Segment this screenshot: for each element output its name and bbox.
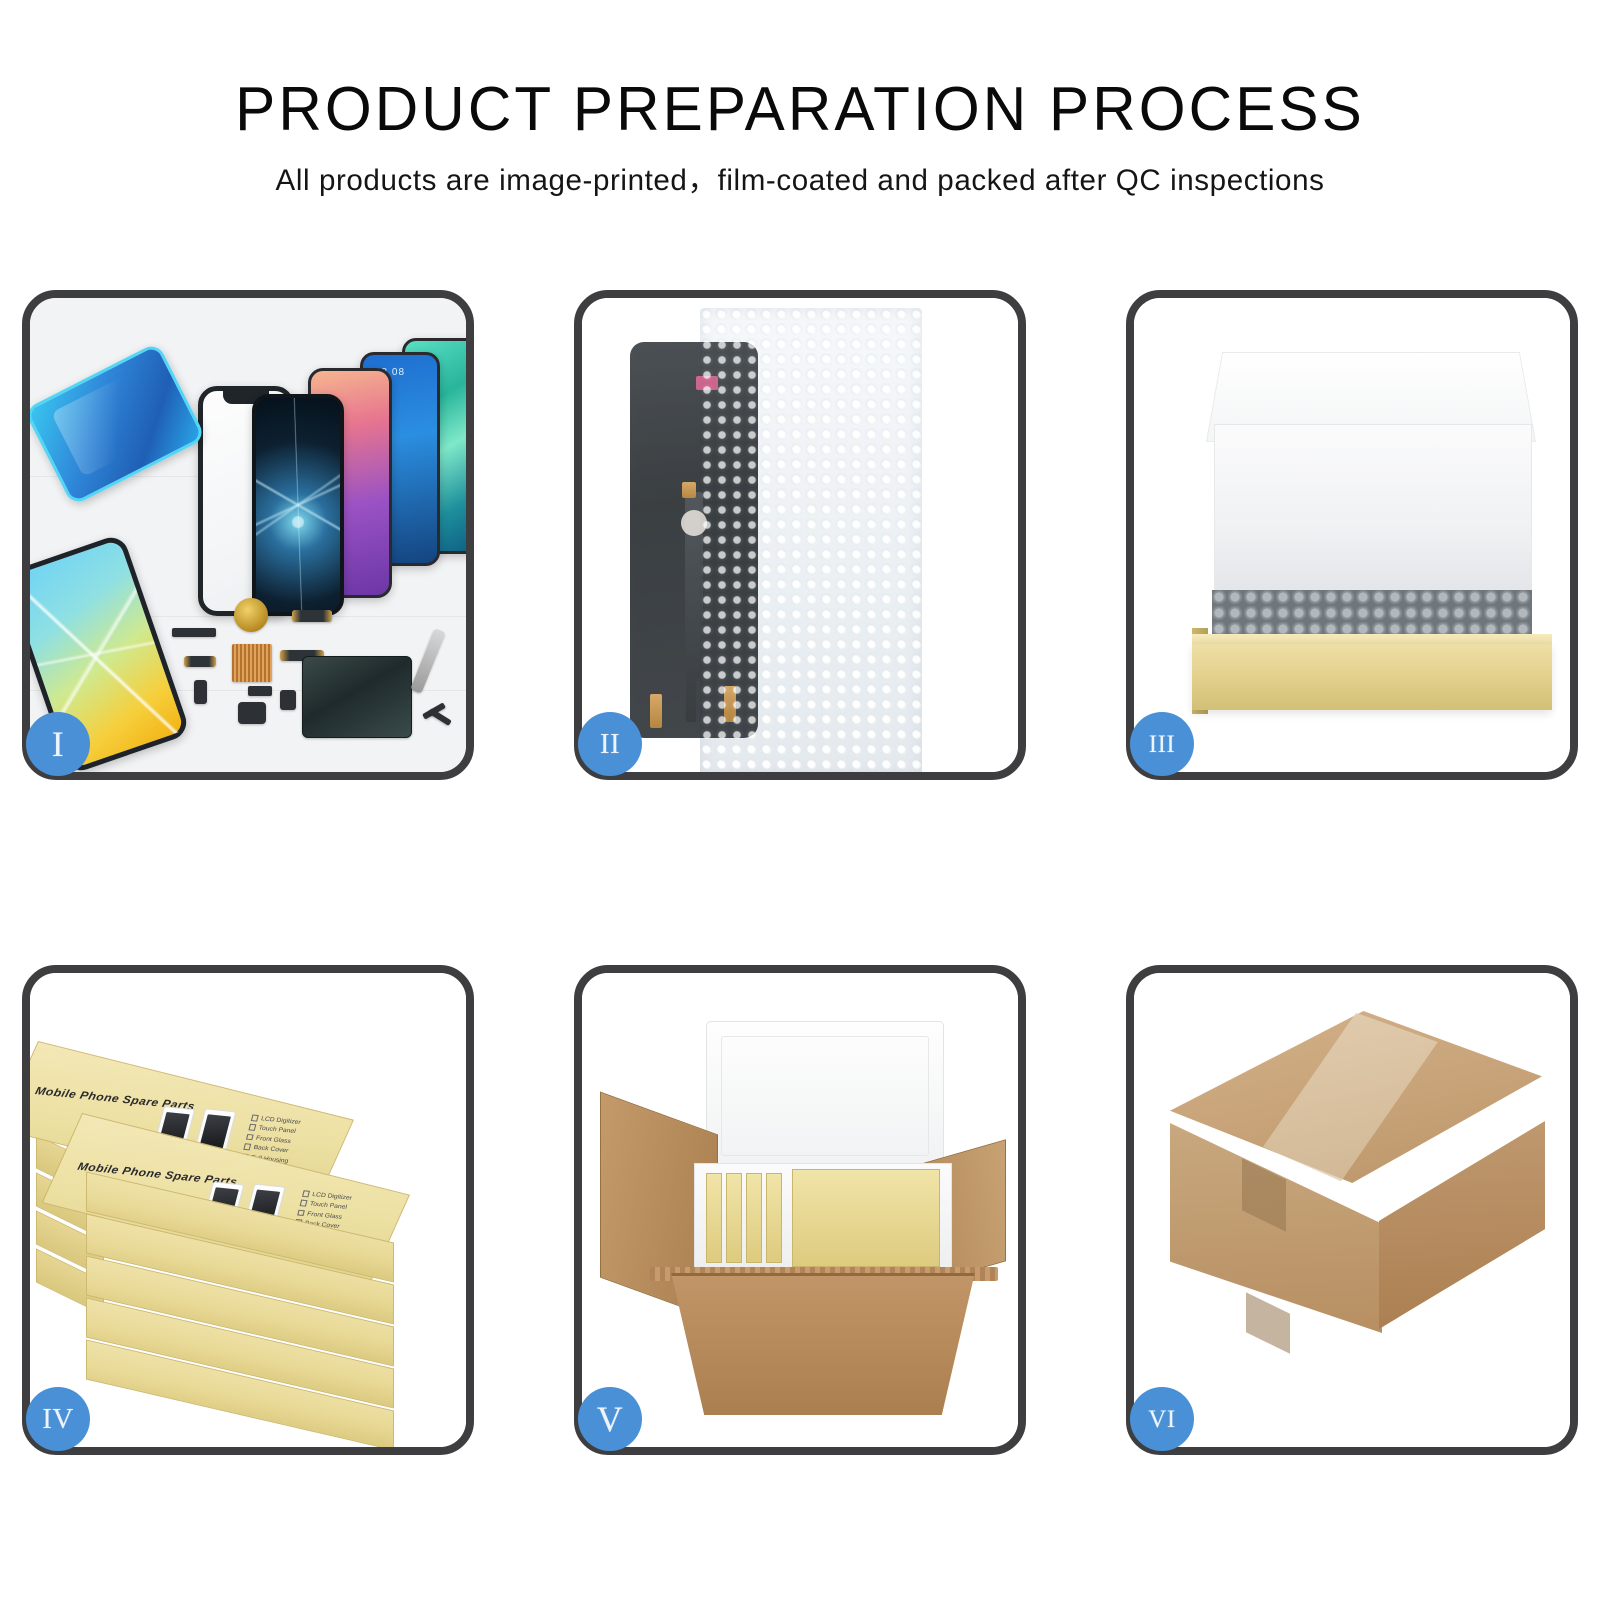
product-box-slot-3 (746, 1173, 762, 1263)
wrapped-lcd-screen (630, 342, 758, 738)
step-3-image (1134, 298, 1570, 772)
product-box-slot-4 (766, 1173, 782, 1263)
page-title: PRODUCT PREPARATION PROCESS (24, 78, 1576, 141)
step-6-image (1134, 973, 1570, 1447)
page-subtitle: All products are image-printed，film-coat… (12, 163, 1588, 199)
product-box-slot-2 (726, 1173, 742, 1263)
gold-contact-3 (682, 482, 696, 498)
step-badge-4: IV (26, 1387, 90, 1451)
camera-module (238, 702, 266, 724)
step-panel-2: II (574, 290, 1026, 780)
white-foam-sheet (1214, 424, 1532, 594)
step-4-image: Mobile Phone Spare Parts LCD Digitizer T… (30, 973, 466, 1447)
step-panel-3: III (1126, 290, 1578, 780)
sealed-carton-scene (1134, 973, 1570, 1447)
gold-contact-1 (650, 694, 662, 728)
carton-foam-scene (582, 973, 1018, 1447)
logic-board (302, 656, 412, 738)
product-preparation-infographic: PRODUCT PREPARATION PROCESS All products… (0, 0, 1600, 1600)
component-cluster-right (696, 678, 748, 734)
step-panel-5: V (574, 965, 1026, 1455)
component-cluster-left (640, 672, 686, 732)
parts-assortment-scene: 08 08 (30, 298, 466, 772)
stacked-boxes-scene: Mobile Phone Spare Parts LCD Digitizer T… (30, 973, 466, 1447)
sim-tray (194, 680, 207, 704)
step-1-image: 08 08 (30, 298, 466, 772)
step-badge-5: V (578, 1387, 642, 1451)
step-panel-6: VI (1126, 965, 1578, 1455)
adhesive-frame-blue (30, 342, 206, 506)
open-mailer-scene (1134, 298, 1570, 772)
connector-part (280, 690, 296, 710)
vibration-motor (248, 686, 272, 696)
step-panel-1: 08 08 (22, 290, 474, 780)
flex-connector (681, 510, 707, 536)
step-5-image (582, 973, 1018, 1447)
gold-contact-2 (724, 686, 736, 722)
wireless-charging-coil (234, 598, 268, 632)
product-box-flat-stack (792, 1169, 940, 1267)
speaker-mesh (172, 628, 216, 637)
step-2-image (582, 298, 1018, 772)
cracked-dark-screen (252, 394, 344, 616)
flex-cable-1 (292, 610, 332, 622)
yellow-mailer-tray (1192, 644, 1552, 710)
step-badge-2: II (578, 712, 642, 776)
step-badge-3: III (1130, 712, 1194, 776)
step-badge-1: I (26, 712, 90, 776)
header: PRODUCT PREPARATION PROCESS All products… (0, 0, 1600, 199)
pink-label-tape (696, 376, 718, 390)
flex-cable-2 (184, 656, 216, 667)
step-panel-4: Mobile Phone Spare Parts LCD Digitizer T… (22, 965, 474, 1455)
product-box-slot-1 (706, 1173, 722, 1263)
carton-seam-lower (1246, 1292, 1290, 1353)
repair-brush (410, 628, 446, 694)
ic-chip-array (232, 644, 272, 682)
process-step-grid: 08 08 (22, 290, 1580, 1455)
foam-box-lid (706, 1021, 944, 1171)
bubble-wrap-scene (582, 298, 1018, 772)
carton-body (658, 1273, 988, 1415)
step-badge-6: VI (1130, 1387, 1194, 1451)
